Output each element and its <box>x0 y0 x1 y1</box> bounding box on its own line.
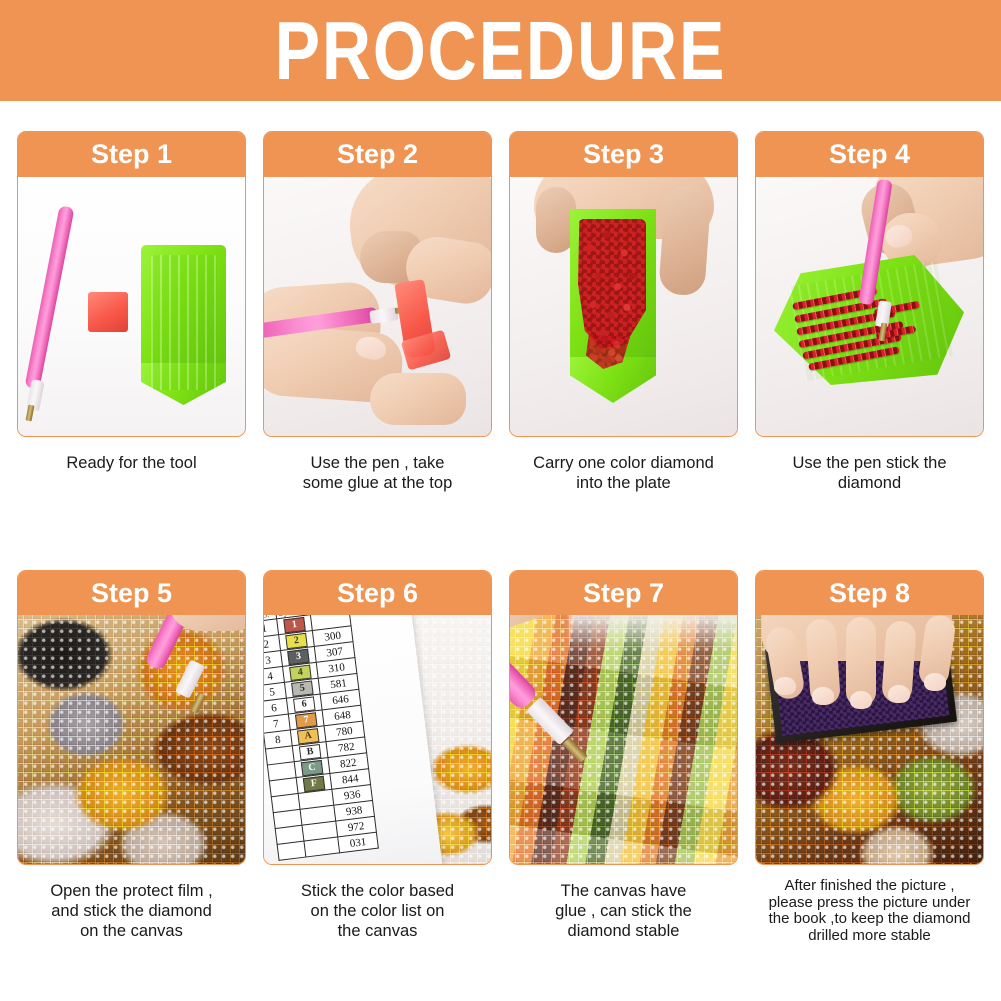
canvas-edge <box>570 615 737 651</box>
step-header-label-1: Step 1 <box>91 141 172 168</box>
step-photo-2 <box>264 177 491 436</box>
color-chart-sheet: No. Symbol DMC 1122300333074431055581666… <box>264 615 443 864</box>
lower-hand-thumb <box>370 373 466 425</box>
step-caption-2: Use the pen , take some glue at the top <box>263 437 492 493</box>
chart-symbol-chip: 7 <box>295 712 318 728</box>
color-chart-table: No. Symbol DMC 1122300333074431055581666… <box>264 615 379 861</box>
step-photo-4 <box>756 177 983 436</box>
step-header-3: Step 3 <box>510 132 737 177</box>
step-header-label-2: Step 2 <box>337 141 418 168</box>
step-header-2: Step 2 <box>264 132 491 177</box>
step-caption-7: The canvas have glue , can stick the dia… <box>509 865 738 941</box>
color-chart-table-wrap: No. Symbol DMC 1122300333074431055581666… <box>264 615 379 861</box>
step-cell-3: Step 3 <box>509 131 738 541</box>
nail-2 <box>812 687 834 705</box>
chart-symbol-chip: 2 <box>285 632 308 648</box>
hand-finger-right <box>658 184 712 297</box>
step-cell-8: Step 8 <box>755 570 984 971</box>
step-card-4[interactable]: Step 4 <box>755 131 984 437</box>
sunflower-mosaic <box>18 615 245 864</box>
finished-canvas-mosaic <box>756 615 983 864</box>
procedure-infographic: PROCEDURE Step 1 <box>0 0 1001 1001</box>
chart-symbol-chip: B <box>299 743 322 759</box>
step-header-label-7: Step 7 <box>583 580 664 607</box>
step-cell-7: Step 7 <box>509 570 738 971</box>
step-photo-3 <box>510 177 737 436</box>
steps-row-1: Step 1 <box>0 101 1001 541</box>
step-cell-6: Step 6 <box>263 570 492 971</box>
canvas-background: No. Symbol DMC 1122300333074431055581666… <box>264 615 491 864</box>
step-header-7: Step 7 <box>510 571 737 615</box>
step-header-5: Step 5 <box>18 571 245 615</box>
step-caption-8: After finished the picture , please pres… <box>755 865 984 944</box>
nail-3 <box>850 691 872 709</box>
step-header-label-4: Step 4 <box>829 141 910 168</box>
step-photo-1 <box>18 177 245 436</box>
mosaic-highlights <box>510 615 737 864</box>
step-card-2[interactable]: Step 2 <box>263 131 492 437</box>
mosaic-highlights <box>18 615 245 864</box>
chart-symbol-chip: 3 <box>287 648 310 664</box>
page-title: PROCEDURE <box>275 9 727 92</box>
chart-symbol-chip: A <box>297 728 320 744</box>
step-photo-7 <box>510 615 737 864</box>
steps-row-2: Step 5 <box>0 541 1001 971</box>
chart-symbol-chip: 4 <box>289 664 312 680</box>
step-card-3[interactable]: Step 3 <box>509 131 738 437</box>
chart-symbol-chip: 1 <box>283 616 306 632</box>
steps-grid: Step 1 <box>0 101 1001 971</box>
chart-symbol-chip: F <box>303 775 326 791</box>
step-header-label-3: Step 3 <box>583 141 664 168</box>
step-header-1: Step 1 <box>18 132 245 177</box>
step-photo-6: No. Symbol DMC 1122300333074431055581666… <box>264 615 491 864</box>
chart-cell-dmc: 031 <box>338 832 379 853</box>
step-header-label-6: Step 6 <box>337 580 418 607</box>
step-card-6[interactable]: Step 6 <box>263 570 492 865</box>
step-caption-6: Stick the color based on the color list … <box>263 865 492 941</box>
step-card-5[interactable]: Step 5 <box>17 570 246 865</box>
step-header-6: Step 6 <box>264 571 491 615</box>
step-header-label-8: Step 8 <box>829 580 910 607</box>
chart-symbol-chip: C <box>301 759 324 775</box>
nail-4 <box>888 685 910 703</box>
step-cell-1: Step 1 <box>17 131 246 541</box>
page-banner: PROCEDURE <box>0 0 1001 101</box>
step-card-8[interactable]: Step 8 <box>755 570 984 865</box>
chart-cell-index <box>277 841 306 860</box>
nail-5 <box>924 673 946 691</box>
step-caption-5: Open the protect film , and stick the di… <box>17 865 246 941</box>
chart-body: 112230033307443105558166646776488A780B78… <box>264 615 378 860</box>
step-cell-2: Step 2 <box>263 131 492 541</box>
step-photo-5 <box>18 615 245 864</box>
chart-cell-symbol <box>304 837 340 857</box>
step-caption-1: Ready for the tool <box>17 437 246 473</box>
step-cell-4: Step 4 <box>755 131 984 541</box>
step-header-4: Step 4 <box>756 132 983 177</box>
chart-symbol-chip: 6 <box>293 696 316 712</box>
glue-square <box>88 292 128 332</box>
step-caption-3: Carry one color diamond into the plate <box>509 437 738 493</box>
step-cell-5: Step 5 <box>17 570 246 971</box>
green-tray-ridges <box>151 255 217 390</box>
colorful-diamond-rows <box>510 615 737 864</box>
step-photo-8 <box>756 615 983 864</box>
pink-pen-body <box>24 205 74 389</box>
nail-1 <box>774 677 796 695</box>
step-card-1[interactable]: Step 1 <box>17 131 246 437</box>
step-caption-4: Use the pen stick the diamond <box>755 437 984 493</box>
chart-symbol-chip: 5 <box>291 680 314 696</box>
step-card-7[interactable]: Step 7 <box>509 570 738 865</box>
step-header-8: Step 8 <box>756 571 983 615</box>
step-header-label-5: Step 5 <box>91 580 172 607</box>
